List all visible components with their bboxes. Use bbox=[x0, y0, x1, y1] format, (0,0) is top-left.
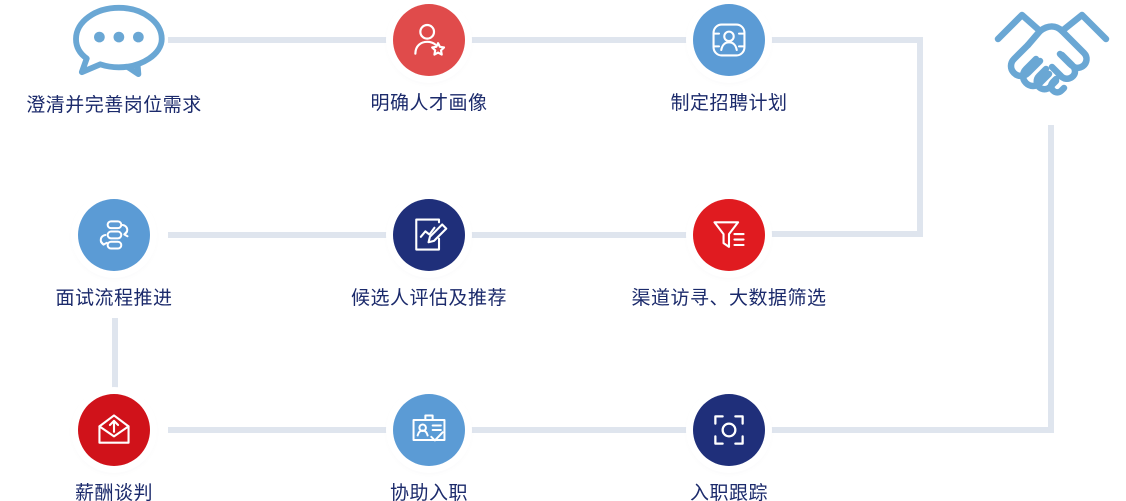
node-9-label: 入职跟踪 bbox=[629, 482, 829, 501]
node-salary-negotiation[interactable]: 薪酬谈判 bbox=[14, 394, 214, 501]
connector-right-up-handshake bbox=[1048, 125, 1054, 433]
speech-bubbles-icon bbox=[60, 2, 168, 78]
node-9-badge bbox=[693, 394, 765, 466]
node-onboarding-tracking[interactable]: 入职跟踪 bbox=[629, 394, 829, 501]
node-4-label: 面试流程推进 bbox=[14, 287, 214, 311]
node-define-talent-profile[interactable]: 明确人才画像 bbox=[329, 4, 529, 116]
node-1-label: 澄清并完善岗位需求 bbox=[14, 94, 214, 118]
node-5-label: 候选人评估及推荐 bbox=[329, 287, 529, 311]
id-badge-check-icon bbox=[409, 410, 449, 450]
envelope-up-arrow-icon bbox=[94, 410, 134, 450]
node-8-label: 协助入职 bbox=[329, 482, 529, 501]
node-clarify-job-requirements[interactable]: 澄清并完善岗位需求 bbox=[14, 2, 214, 118]
process-flow-icon bbox=[94, 215, 134, 255]
node-candidate-assessment[interactable]: 候选人评估及推荐 bbox=[329, 199, 529, 311]
node-2-badge bbox=[393, 4, 465, 76]
node-2-label: 明确人才画像 bbox=[329, 92, 529, 116]
focus-target-icon bbox=[709, 410, 749, 450]
node-1-badge bbox=[59, 2, 169, 78]
node-7-badge bbox=[78, 394, 150, 466]
connector-right-down bbox=[917, 37, 923, 237]
node-4-badge bbox=[78, 199, 150, 271]
person-id-frame-icon bbox=[709, 20, 749, 60]
flowchart-canvas: 澄清并完善岗位需求 明确人才画像 bbox=[0, 0, 1126, 501]
node-channel-sourcing-bigdata[interactable]: 渠道访寻、大数据筛选 bbox=[629, 199, 829, 311]
node-8-badge bbox=[393, 394, 465, 466]
node-3-label: 制定招聘计划 bbox=[629, 92, 829, 116]
node-onboarding-assistance[interactable]: 协助入职 bbox=[329, 394, 529, 501]
node-7-label: 薪酬谈判 bbox=[14, 482, 214, 501]
document-pencil-icon bbox=[409, 215, 449, 255]
handshake-decoration bbox=[992, 3, 1112, 99]
node-6-badge bbox=[693, 199, 765, 271]
person-star-icon bbox=[409, 20, 449, 60]
node-5-badge bbox=[393, 199, 465, 271]
node-interview-process[interactable]: 面试流程推进 bbox=[14, 199, 214, 311]
node-recruitment-plan[interactable]: 制定招聘计划 bbox=[629, 4, 829, 116]
node-3-badge bbox=[693, 4, 765, 76]
node-6-label: 渠道访寻、大数据筛选 bbox=[629, 287, 829, 311]
funnel-filter-icon bbox=[709, 215, 749, 255]
